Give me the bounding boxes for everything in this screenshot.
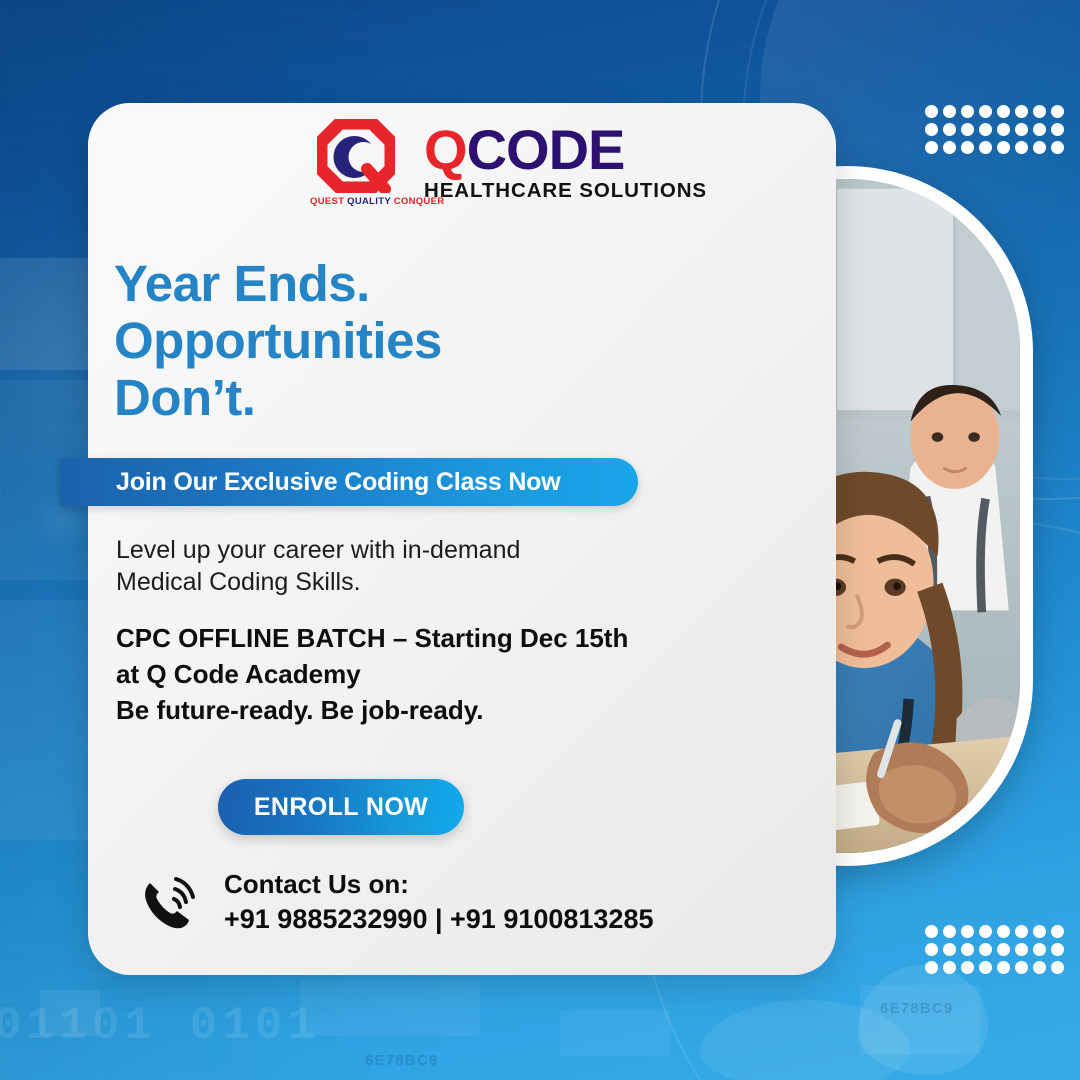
content-card: QUEST QUALITY CONQUER QCODE HEALTHCARE S… <box>88 103 836 975</box>
background-panel-block <box>300 980 480 1036</box>
watermark-text: 6E78BC9 <box>880 1000 953 1017</box>
page-title: Year Ends. Opportunities Don’t. <box>114 255 442 426</box>
enroll-now-button[interactable]: ENROLL NOW <box>218 779 464 835</box>
watermark-text: 6E78BC9 <box>365 1052 438 1069</box>
contact-text: Contact Us on: +91 9885232990 | +91 9100… <box>224 868 653 937</box>
decorative-dot-grid-top <box>925 105 1064 154</box>
brand-wordmark: QCODE <box>424 123 707 177</box>
batch-details: CPC OFFLINE BATCH – Starting Dec 15th at… <box>116 621 628 729</box>
contact-phone-numbers[interactable]: +91 9885232990 | +91 9100813285 <box>224 902 653 937</box>
poster-canvas: 01101 0101 6E78BC9 6E78BC9 <box>0 0 1080 1080</box>
decorative-dot-grid-bottom <box>925 925 1064 974</box>
wordmark-code: CODE <box>467 118 625 181</box>
wordmark-q: Q <box>424 118 467 181</box>
brand-logo: QUEST QUALITY CONQUER QCODE HEALTHCARE S… <box>310 119 707 207</box>
brand-wordmark-block: QCODE HEALTHCARE SOLUTIONS <box>424 123 707 203</box>
promo-ribbon: Join Our Exclusive Coding Class Now <box>60 458 638 506</box>
q-octagon-logo-icon: QUEST QUALITY CONQUER <box>310 119 402 207</box>
phone-ringing-icon <box>138 871 202 933</box>
contact-block: Contact Us on: +91 9885232990 | +91 9100… <box>138 868 653 937</box>
brand-subtitle: HEALTHCARE SOLUTIONS <box>424 179 707 203</box>
tagline-word-quest: QUEST <box>310 196 347 207</box>
background-binary-strip: 01101 0101 <box>0 1000 320 1052</box>
logo-tagline: QUEST QUALITY CONQUER <box>310 196 402 207</box>
promo-ribbon-label: Join Our Exclusive Coding Class Now <box>116 468 561 497</box>
tagline-word-quality: QUALITY <box>347 196 394 207</box>
lead-paragraph: Level up your career with in-demand Medi… <box>116 535 520 598</box>
background-panel-block <box>560 1010 670 1056</box>
contact-title: Contact Us on: <box>224 868 653 902</box>
